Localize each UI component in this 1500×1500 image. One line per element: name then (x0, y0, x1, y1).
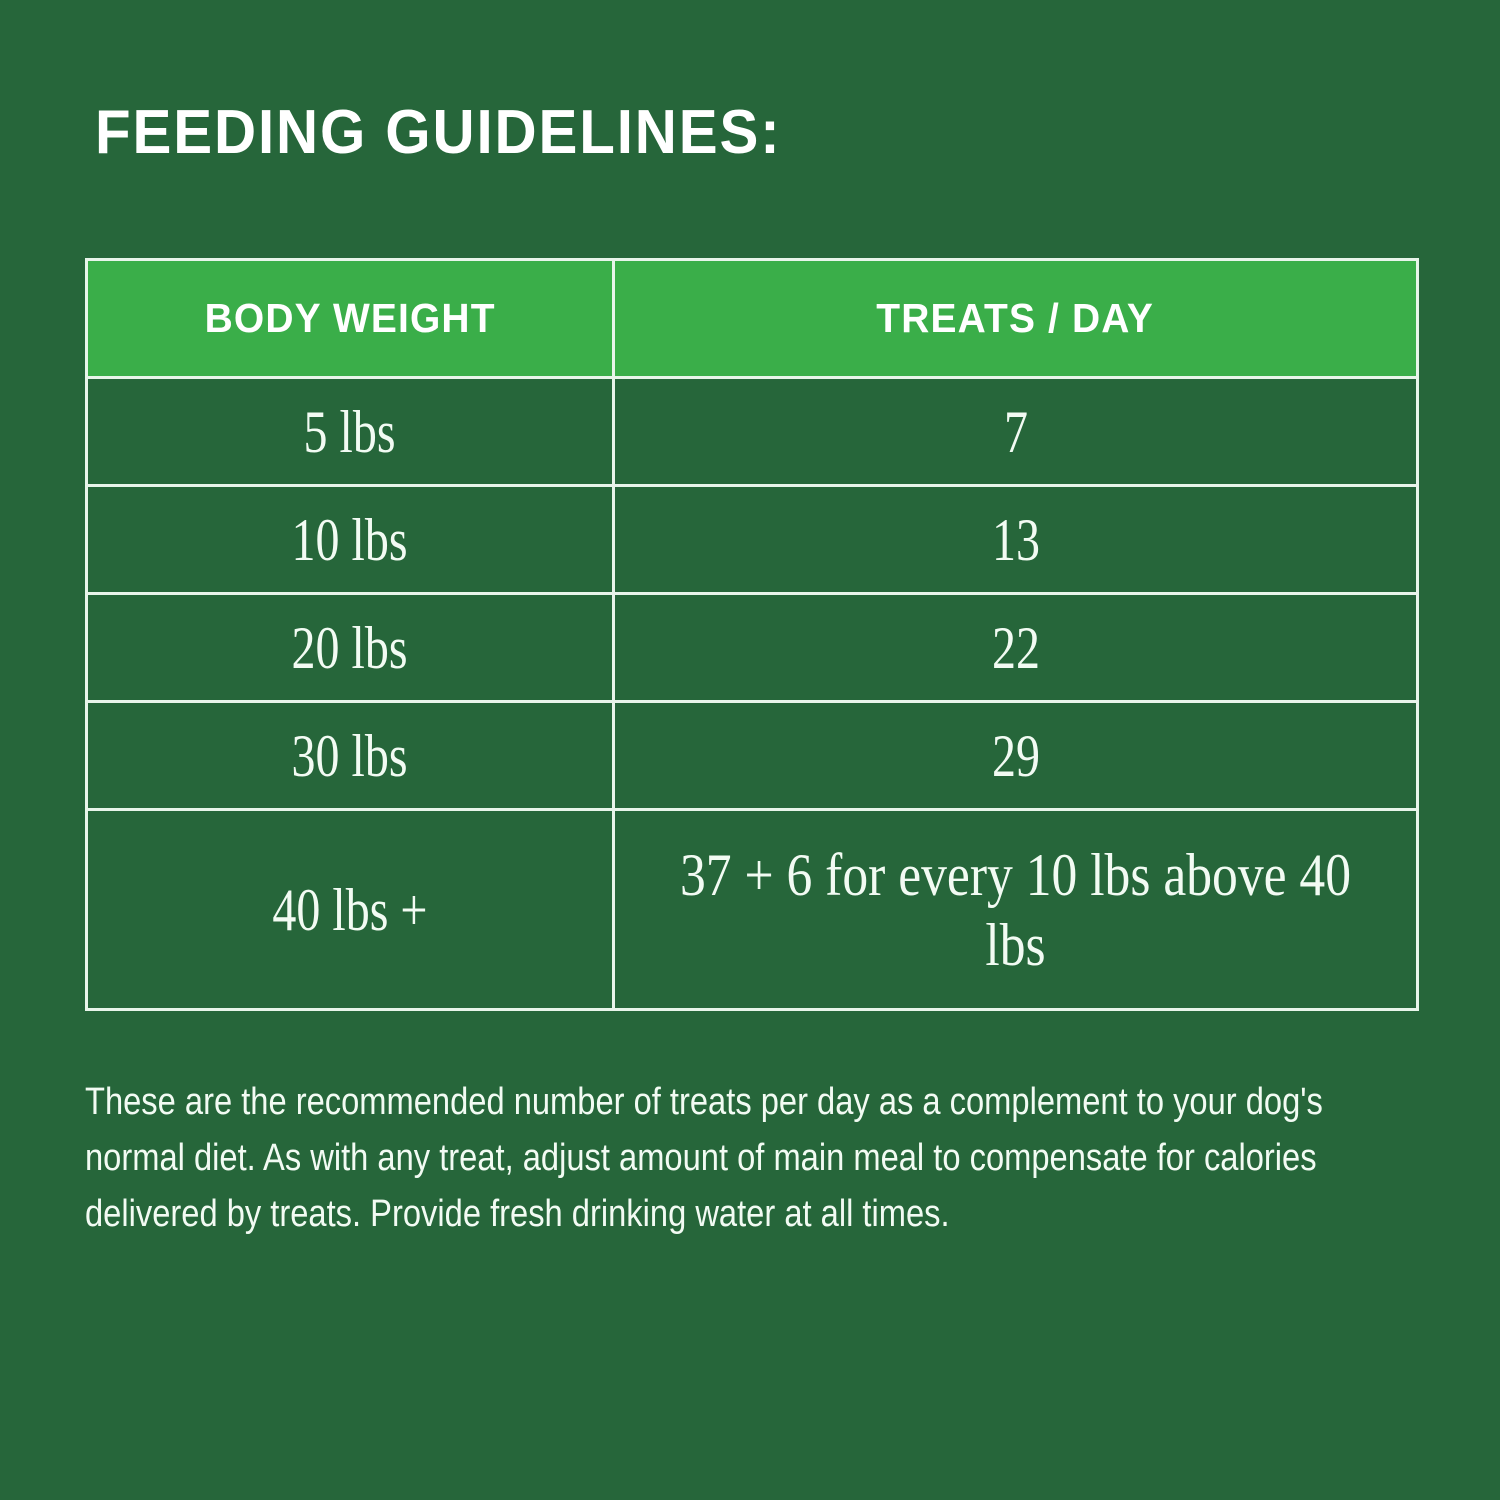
value-body-weight: 20 lbs (292, 616, 408, 680)
feeding-guidelines-table: BODY WEIGHT TREATS / DAY 5 lbs 7 10 lbs … (85, 258, 1419, 1011)
value-body-weight: 5 lbs (304, 400, 396, 464)
cell-body-weight: 40 lbs + (88, 811, 615, 1008)
header-label-body-weight: BODY WEIGHT (205, 295, 496, 342)
value-treats-per-day: 37 + 6 for every 10 lbs above 40 lbs (671, 840, 1360, 980)
value-body-weight: 40 lbs + (272, 878, 427, 942)
cell-body-weight: 20 lbs (88, 595, 615, 700)
table-row: 40 lbs + 37 + 6 for every 10 lbs above 4… (88, 808, 1416, 1008)
cell-treats-per-day: 37 + 6 for every 10 lbs above 40 lbs (615, 811, 1416, 1008)
table-row: 30 lbs 29 (88, 700, 1416, 808)
footnote-text: These are the recommended number of trea… (85, 1074, 1425, 1242)
value-treats-per-day: 13 (992, 508, 1040, 572)
table-row: 5 lbs 7 (88, 376, 1416, 484)
value-treats-per-day: 29 (992, 724, 1040, 788)
cell-treats-per-day: 22 (615, 595, 1416, 700)
cell-treats-per-day: 29 (615, 703, 1416, 808)
table-row: 10 lbs 13 (88, 484, 1416, 592)
cell-body-weight: 5 lbs (88, 379, 615, 484)
value-body-weight: 30 lbs (292, 724, 408, 788)
value-treats-per-day: 22 (992, 616, 1040, 680)
header-cell-body-weight: BODY WEIGHT (88, 261, 615, 376)
table-row: 20 lbs 22 (88, 592, 1416, 700)
value-body-weight: 10 lbs (292, 508, 408, 572)
header-label-treats-per-day: TREATS / DAY (877, 295, 1155, 342)
cell-body-weight: 10 lbs (88, 487, 615, 592)
cell-treats-per-day: 13 (615, 487, 1416, 592)
value-treats-per-day: 7 (1004, 400, 1028, 464)
page-title: FEEDING GUIDELINES: (95, 98, 782, 168)
cell-treats-per-day: 7 (615, 379, 1416, 484)
header-cell-treats-per-day: TREATS / DAY (615, 261, 1416, 376)
table-header-row: BODY WEIGHT TREATS / DAY (88, 261, 1416, 376)
feeding-guidelines-panel: FEEDING GUIDELINES: BODY WEIGHT TREATS /… (0, 0, 1500, 1500)
cell-body-weight: 30 lbs (88, 703, 615, 808)
